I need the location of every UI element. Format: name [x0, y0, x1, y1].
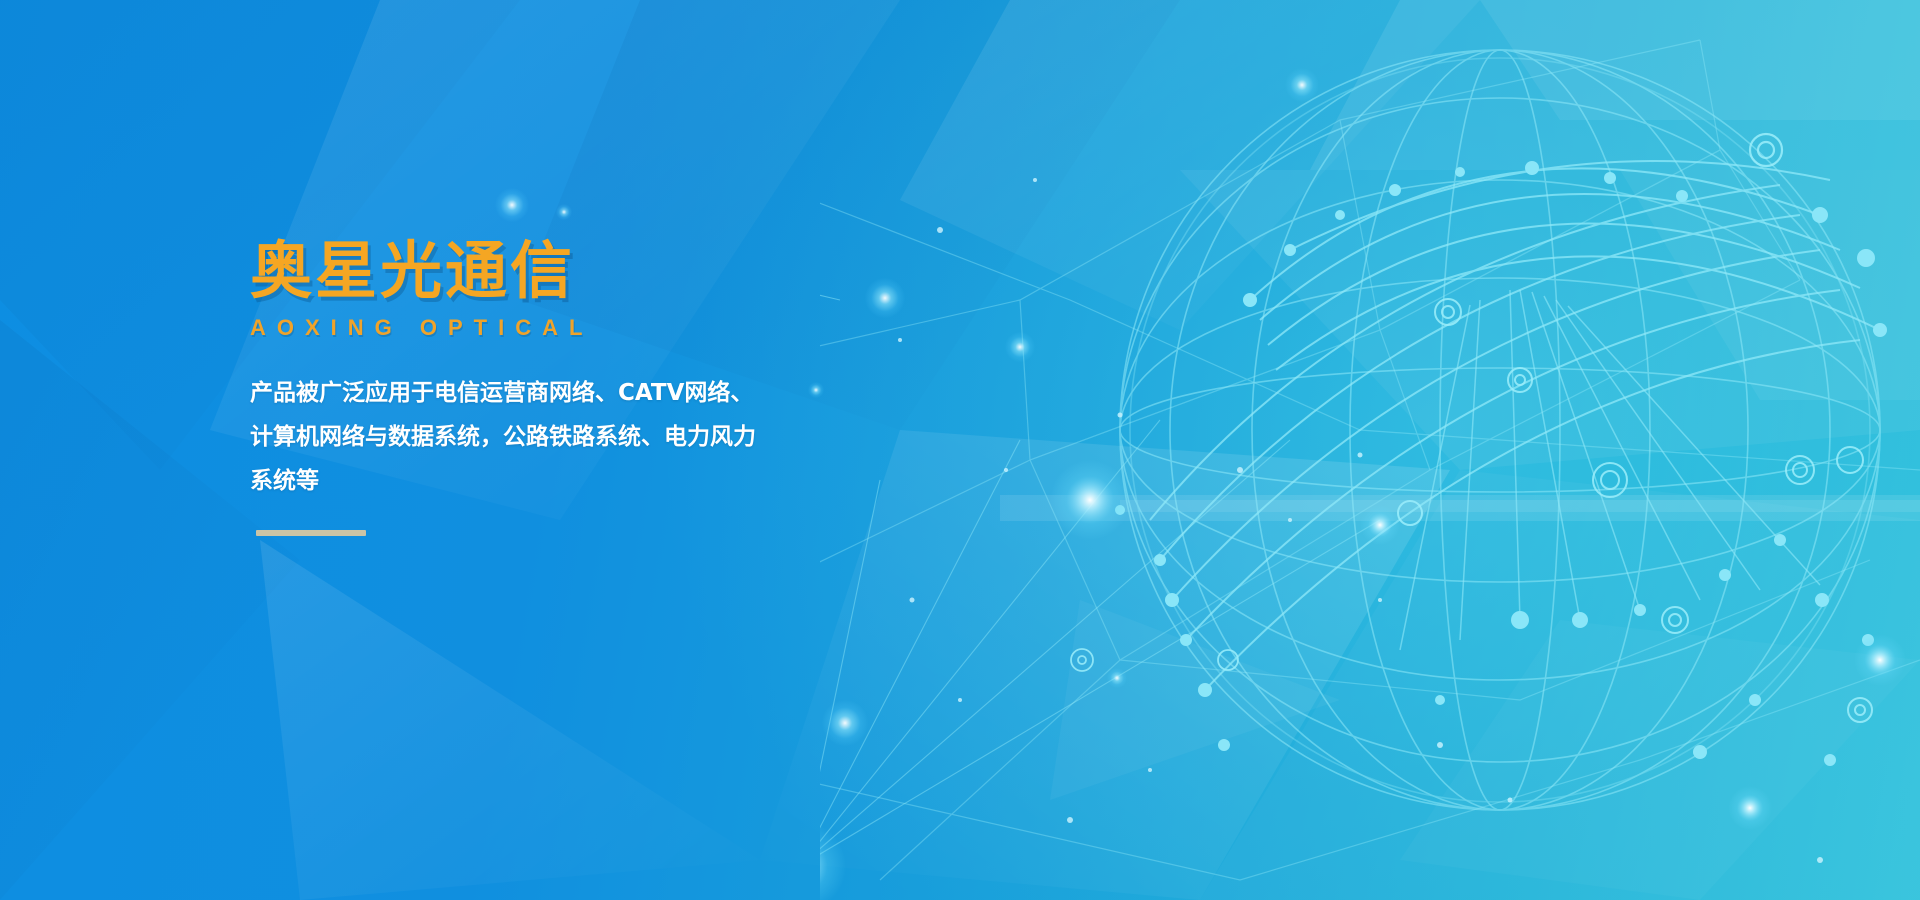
brand-title-en: AOXING OPTICAL — [250, 315, 1010, 341]
banner-content: 奥星光通信 AOXING OPTICAL 产品被广泛应用于电信运营商网络、CAT… — [250, 236, 1010, 536]
accent-rule — [256, 530, 366, 536]
hero-banner: 奥星光通信 AOXING OPTICAL 产品被广泛应用于电信运营商网络、CAT… — [0, 0, 1920, 900]
banner-description: 产品被广泛应用于电信运营商网络、CATV网络、计算机网络与数据系统，公路铁路系统… — [250, 371, 765, 503]
brand-title-cn: 奥星光通信 — [250, 236, 1010, 305]
